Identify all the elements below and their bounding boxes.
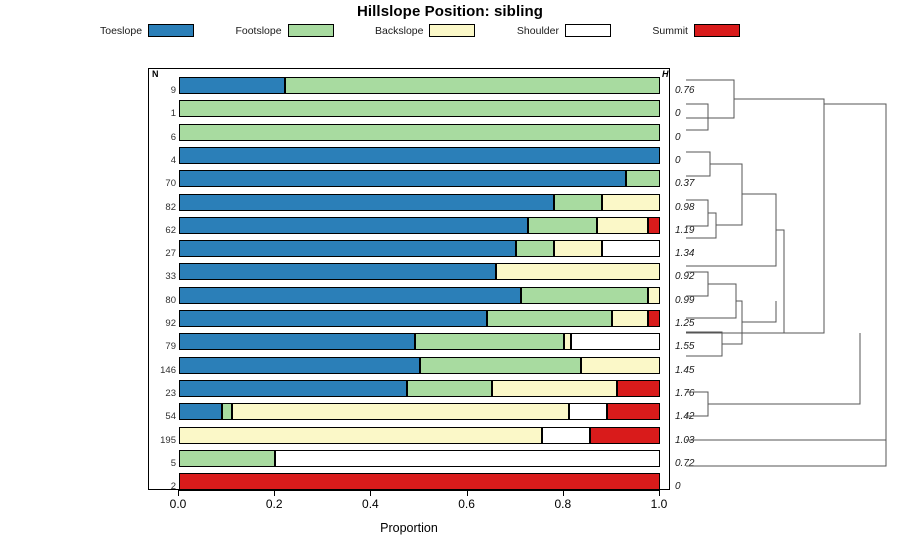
stacked-bar bbox=[179, 263, 660, 280]
bar-segment bbox=[232, 403, 569, 420]
row-n-value: 80 bbox=[149, 295, 176, 306]
row-n-value: 79 bbox=[149, 341, 176, 352]
x-tick-label: 0.0 bbox=[158, 497, 198, 511]
row-n-value: 1 bbox=[149, 108, 176, 119]
row-n-value: 9 bbox=[149, 85, 176, 96]
row-n-value: 6 bbox=[149, 132, 176, 143]
legend-swatch bbox=[148, 24, 194, 37]
stacked-bar bbox=[179, 310, 660, 327]
bar-segment bbox=[179, 217, 528, 234]
legend-swatch bbox=[429, 24, 475, 37]
bar-segment bbox=[179, 287, 521, 304]
chart-row: LODO1951.03 bbox=[149, 423, 671, 447]
column-header-h: H bbox=[662, 69, 669, 79]
stacked-bar bbox=[179, 287, 660, 304]
bar-segment bbox=[648, 217, 660, 234]
bar-segment bbox=[648, 287, 660, 304]
bar-segment bbox=[179, 450, 275, 467]
chart-row: GRANGEVILLE800.99 bbox=[149, 283, 671, 307]
legend: ToeslopeFootslopeBackslopeShoulderSummit bbox=[100, 24, 740, 37]
bar-segment bbox=[179, 170, 626, 187]
chart-row: TUJUNGA921.25 bbox=[149, 306, 671, 330]
bar-segment bbox=[617, 380, 660, 397]
bar-segment bbox=[602, 240, 660, 257]
bar-segment bbox=[554, 240, 602, 257]
bar-segment bbox=[612, 310, 648, 327]
legend-item-summit: Summit bbox=[652, 24, 740, 37]
row-n-value: 33 bbox=[149, 271, 176, 282]
bar-segment bbox=[626, 170, 660, 187]
bar-segment bbox=[222, 403, 232, 420]
bar-segment bbox=[590, 427, 660, 444]
x-tick bbox=[659, 490, 660, 496]
bar-segment bbox=[179, 427, 542, 444]
stacked-bar bbox=[179, 240, 660, 257]
x-axis-title: Proportion bbox=[148, 521, 670, 535]
x-tick-label: 0.6 bbox=[447, 497, 487, 511]
stacked-bar bbox=[179, 217, 660, 234]
bar-segment bbox=[179, 194, 554, 211]
row-n-value: 5 bbox=[149, 458, 176, 469]
legend-item-shoulder: Shoulder bbox=[517, 24, 611, 37]
stacked-bar bbox=[179, 333, 660, 350]
bar-segment bbox=[285, 77, 660, 94]
legend-label: Shoulder bbox=[517, 25, 559, 37]
column-header-n: N bbox=[152, 69, 159, 79]
row-n-value: 92 bbox=[149, 318, 176, 329]
stacked-bar bbox=[179, 473, 660, 490]
bar-segment bbox=[179, 240, 516, 257]
bar-segment bbox=[179, 403, 222, 420]
bar-segment bbox=[179, 357, 420, 374]
legend-swatch bbox=[288, 24, 334, 37]
chart-row: SOBOBA231.76 bbox=[149, 376, 671, 400]
row-n-value: 146 bbox=[149, 365, 176, 376]
stacked-bar bbox=[179, 147, 660, 164]
x-tick-label: 0.4 bbox=[350, 497, 390, 511]
stacked-bar bbox=[179, 77, 660, 94]
bar-segment bbox=[602, 194, 660, 211]
bar-segment bbox=[275, 450, 660, 467]
bar-segment bbox=[179, 263, 496, 280]
row-n-value: 54 bbox=[149, 411, 176, 422]
x-tick-label: 0.2 bbox=[254, 497, 294, 511]
chart-row: FOSTER700.37 bbox=[149, 166, 671, 190]
chart-row: GORGONIO10 bbox=[149, 96, 671, 120]
bar-segment bbox=[496, 263, 660, 280]
bar-segment bbox=[487, 310, 612, 327]
legend-swatch bbox=[694, 24, 740, 37]
x-tick-label: 0.8 bbox=[543, 497, 583, 511]
bar-segment bbox=[528, 217, 598, 234]
legend-label: Summit bbox=[652, 25, 688, 37]
row-n-value: 62 bbox=[149, 225, 176, 236]
stacked-bar bbox=[179, 427, 660, 444]
chart-row: PICO271.34 bbox=[149, 236, 671, 260]
bar-segment bbox=[407, 380, 491, 397]
chart-row: METZ820.98 bbox=[149, 190, 671, 214]
bar-segment bbox=[648, 310, 660, 327]
stacked-bar bbox=[179, 170, 660, 187]
bar-segment bbox=[542, 427, 590, 444]
bar-segment bbox=[179, 147, 660, 164]
chart-row: PALMVIEW40 bbox=[149, 143, 671, 167]
stacked-bar bbox=[179, 100, 660, 117]
stacked-bar bbox=[179, 357, 660, 374]
row-n-value: 27 bbox=[149, 248, 176, 259]
legend-label: Footslope bbox=[235, 25, 281, 37]
legend-label: Toeslope bbox=[100, 25, 142, 37]
bar-segment bbox=[581, 357, 660, 374]
chart-row: SAN EMIGDIO621.19 bbox=[149, 213, 671, 237]
chart-row: DELHI541.42 bbox=[149, 399, 671, 423]
bar-segment bbox=[179, 124, 660, 141]
bar-segment bbox=[179, 380, 407, 397]
legend-item-toeslope: Toeslope bbox=[100, 24, 194, 37]
x-tick-label: 1.0 bbox=[639, 497, 679, 511]
chart-row: ARROYO SECO60 bbox=[149, 120, 671, 144]
stacked-bar bbox=[179, 194, 660, 211]
legend-swatch bbox=[565, 24, 611, 37]
legend-label: Backslope bbox=[375, 25, 423, 37]
bar-segment bbox=[597, 217, 648, 234]
stacked-bar bbox=[179, 450, 660, 467]
bar-segment bbox=[179, 100, 660, 117]
bar-segment bbox=[420, 357, 581, 374]
bar-segment bbox=[571, 333, 660, 350]
bar-segment bbox=[415, 333, 564, 350]
x-axis-line bbox=[178, 490, 659, 491]
bar-segment bbox=[179, 310, 487, 327]
bar-segment bbox=[516, 240, 554, 257]
row-n-value: 82 bbox=[149, 202, 176, 213]
stacked-bar bbox=[179, 403, 660, 420]
chart-row: BAYWOOD330.92 bbox=[149, 259, 671, 283]
bar-segment bbox=[569, 403, 607, 420]
chart-row: ELDER791.55 bbox=[149, 329, 671, 353]
row-n-value: 4 bbox=[149, 155, 176, 166]
row-n-value: 23 bbox=[149, 388, 176, 399]
bar-segment bbox=[564, 333, 571, 350]
dendrogram bbox=[672, 68, 900, 490]
bar-segment bbox=[492, 380, 617, 397]
stacked-bar bbox=[179, 124, 660, 141]
chart-row: YETTEM90.76 bbox=[149, 73, 671, 97]
bar-segment bbox=[521, 287, 648, 304]
bar-segment bbox=[179, 473, 660, 490]
page-title: Hillslope Position: sibling bbox=[0, 3, 900, 20]
bar-segment bbox=[179, 333, 415, 350]
bar-segment bbox=[179, 77, 285, 94]
stacked-bar bbox=[179, 380, 660, 397]
legend-item-footslope: Footslope bbox=[235, 24, 333, 37]
stacked-bar-plot: YETTEM90.76GORGONIO10ARROYO SECO60PALMVI… bbox=[148, 68, 670, 490]
bar-segment bbox=[554, 194, 602, 211]
chart-row: HANFORD1461.45 bbox=[149, 353, 671, 377]
row-n-value: 195 bbox=[149, 435, 176, 446]
row-n-value: 70 bbox=[149, 178, 176, 189]
bar-segment bbox=[607, 403, 660, 420]
legend-item-backslope: Backslope bbox=[375, 24, 475, 37]
chart-row: AKERS50.72 bbox=[149, 446, 671, 470]
